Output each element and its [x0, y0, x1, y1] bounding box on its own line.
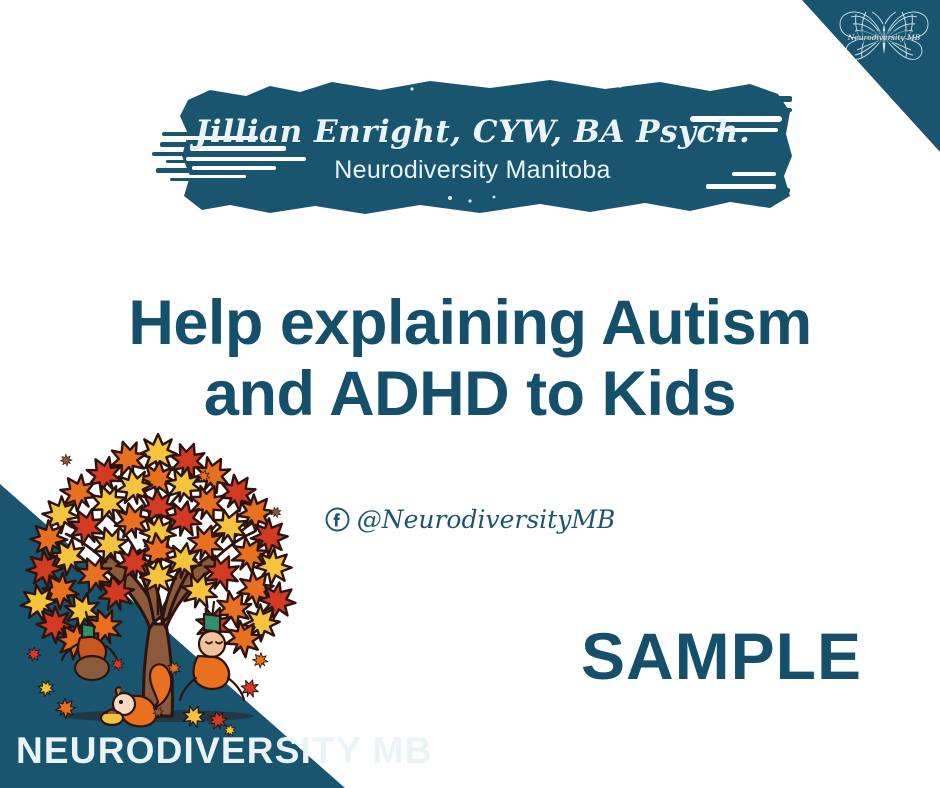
organization-name: Neurodiversity Manitoba [334, 156, 610, 185]
butterfly-logo-caption: Neurodiversity MB [847, 33, 921, 42]
autumn-tree-illustration [8, 416, 308, 746]
sample-watermark: SAMPLE [581, 618, 862, 694]
presenter-name: Jillian Enright, CYW, BA Psych. [195, 114, 751, 150]
poster-canvas: Neurodiversity MB [0, 0, 940, 788]
brush-banner: Jillian Enright, CYW, BA Psych. Neurodiv… [150, 72, 795, 220]
title-line-1: Help explaining Autism [0, 288, 940, 359]
page-title: Help explaining Autism and ADHD to Kids [0, 288, 940, 429]
butterfly-icon: Neurodiversity MB [836, 6, 932, 68]
handle-text: @NeurodiversityMB [357, 505, 616, 534]
footer-wordmark: NEURODIVERSITY MB [16, 730, 433, 772]
